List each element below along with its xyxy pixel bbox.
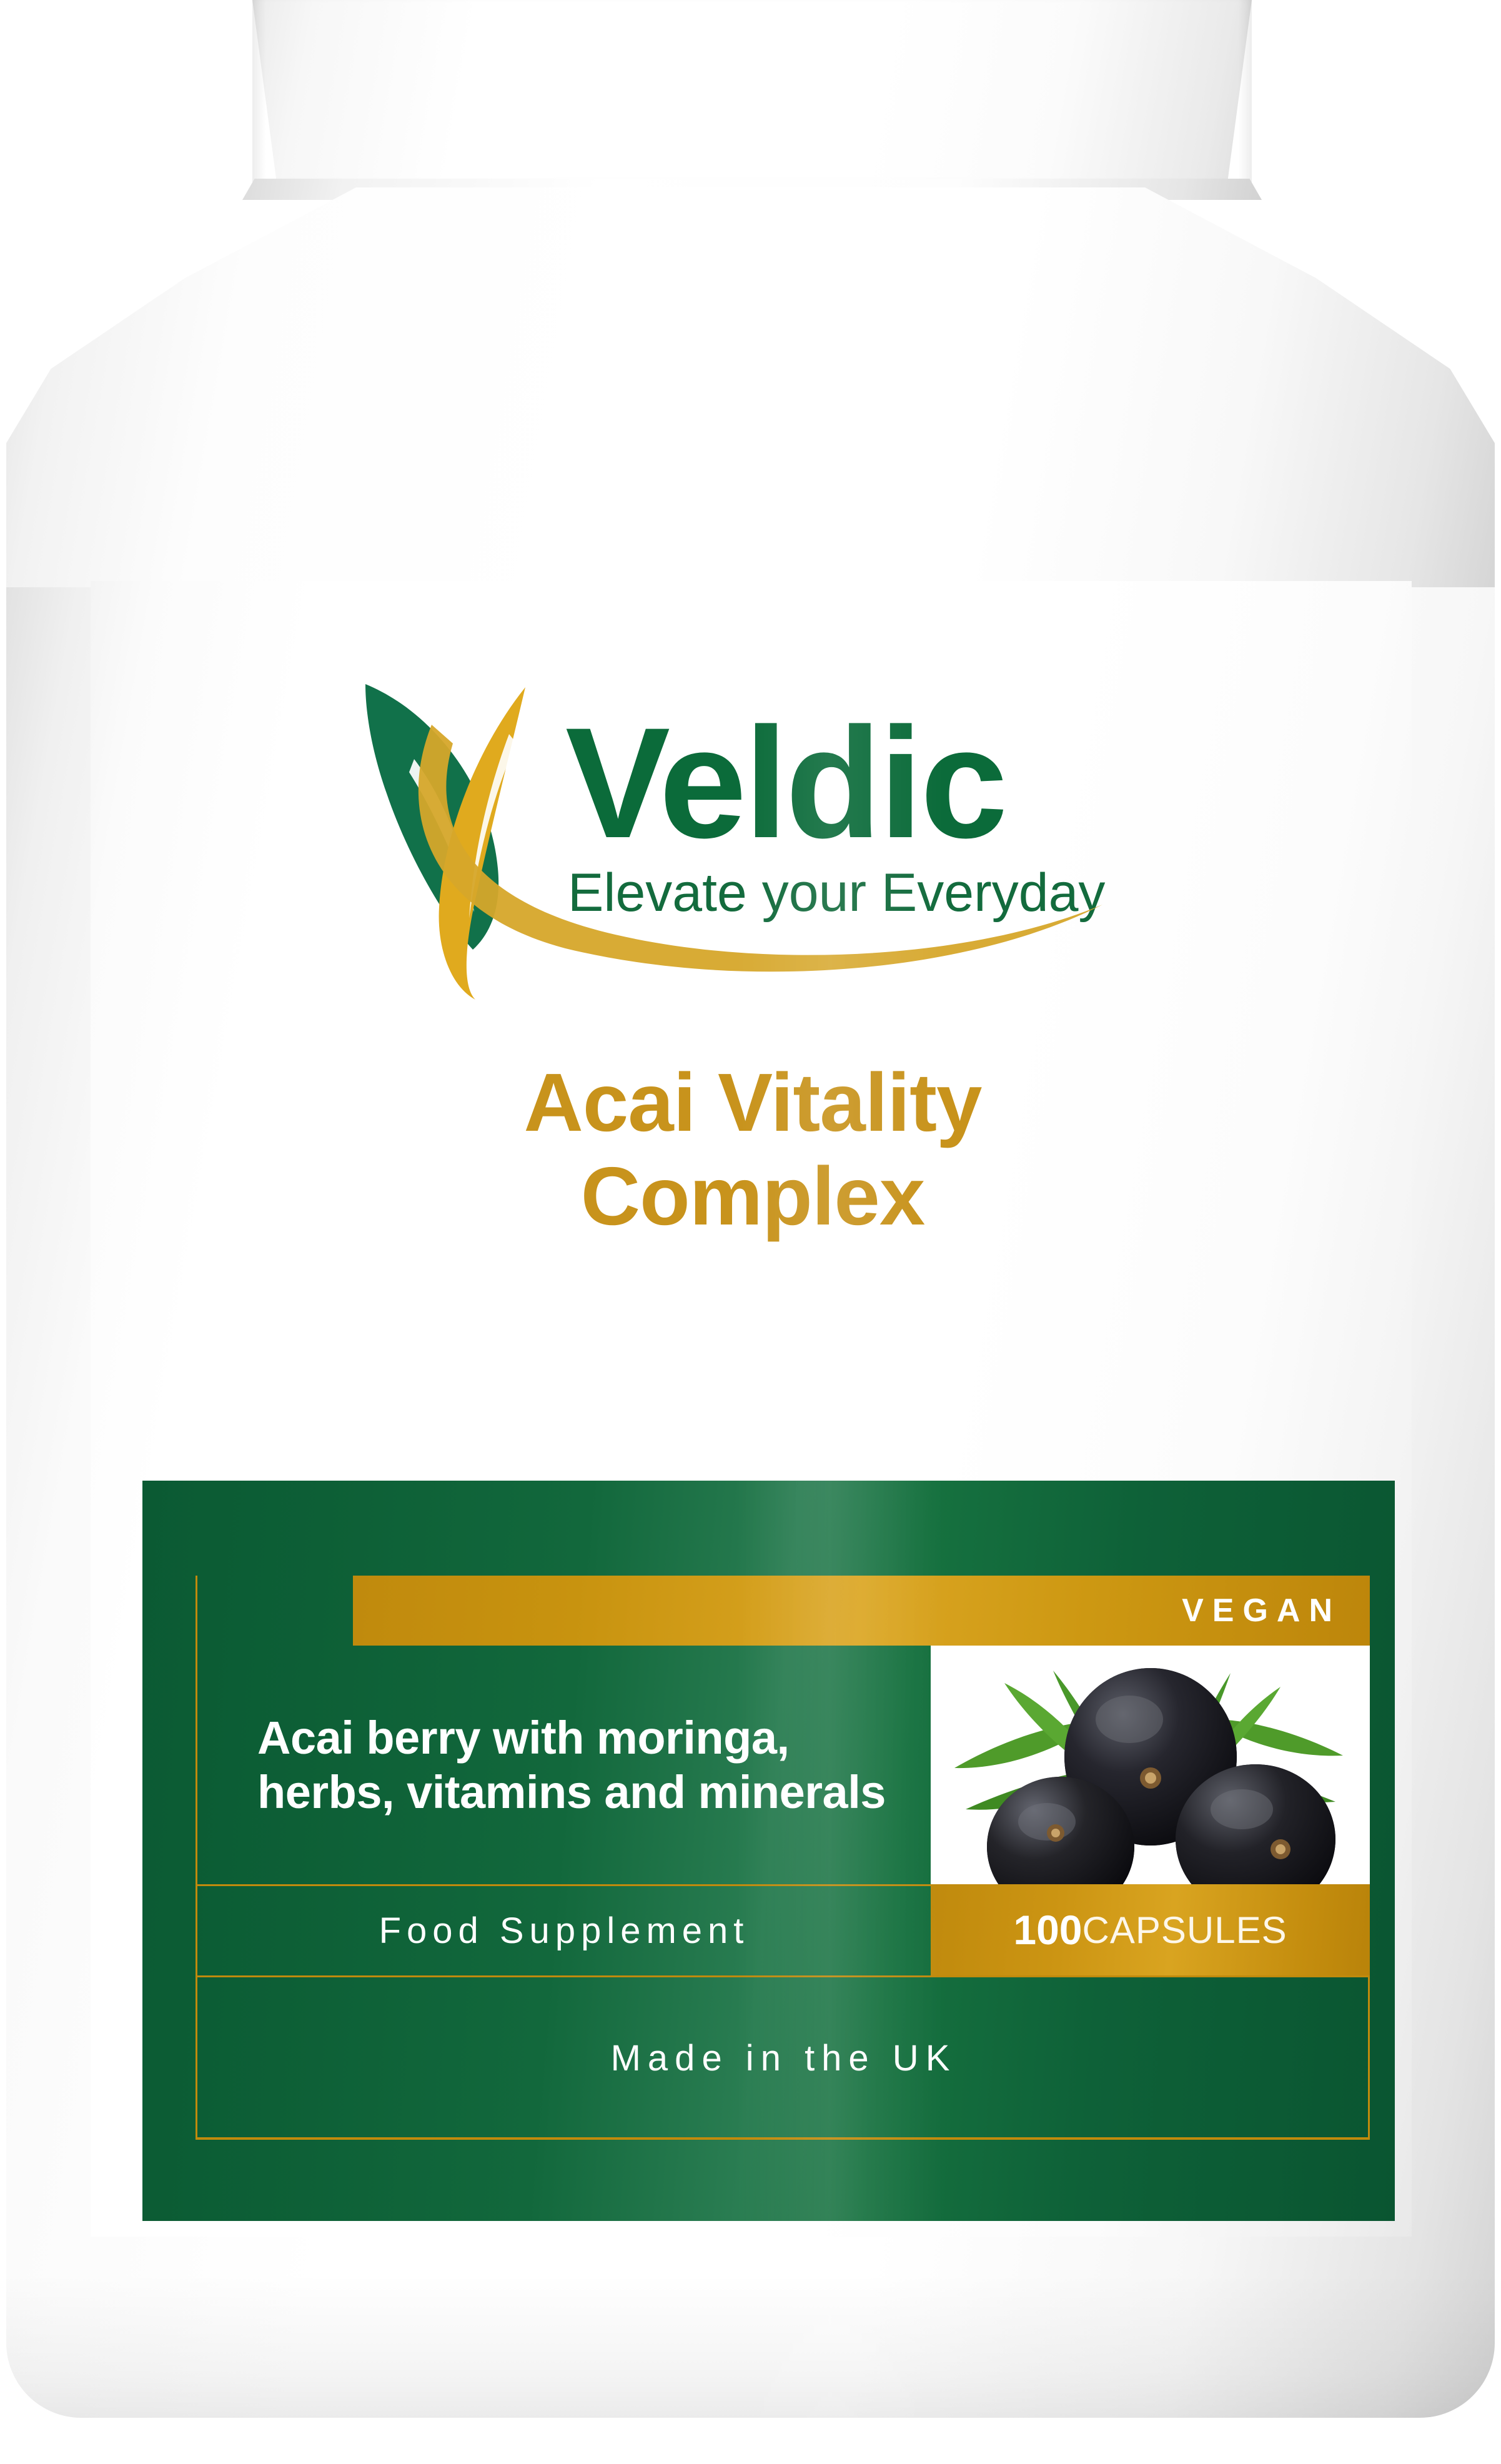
cap-edge-left [252,0,266,187]
capsule-count-row: 100 CAPSULES [931,1884,1370,1975]
brand-wordmark: Veldic [565,695,1005,871]
food-supplement-label: Food Supplement [379,1910,750,1952]
product-title-line-2: Complex [184,1150,1321,1243]
capsule-count-value: 100 [1013,1906,1082,1954]
page-title: Acai Vitality Complex [184,1056,1321,1244]
description-row: Acai berry with moringa, herbs, vitamins… [197,1646,931,1884]
product-description: Acai berry with moringa, herbs, vitamins… [197,1711,931,1820]
brand-logo: Veldic Elevate your Everyday [303,650,1209,1000]
vegan-badge: VEGAN [353,1576,1370,1646]
bottle-cap [252,0,1252,187]
frame-rail-bottom [196,2137,1370,2140]
bottle-base-shadow [6,2274,1495,2418]
brand-tagline: Elevate your Everyday [568,863,1105,923]
product-bottle: Veldic Elevate your Everyday Acai Vitali… [0,0,1501,2464]
origin-label: Made in the UK [611,2037,957,2079]
origin-row: Made in the UK [197,1975,1370,2139]
cap-edge-right [1238,0,1252,187]
vegan-badge-label: VEGAN [1182,1592,1370,1629]
product-title-line-1: Acai Vitality [184,1056,1321,1150]
acai-berry-photo [931,1646,1370,1884]
product-label: Veldic Elevate your Everyday Acai Vitali… [91,581,1412,2237]
frame-rail-left [196,1576,197,1646]
food-supplement-row: Food Supplement [197,1884,931,1975]
bottle-shoulder [6,187,1495,600]
capsule-count-unit: CAPSULES [1082,1909,1287,1952]
green-info-panel: VEGAN Acai berry with moringa, herbs, vi… [142,1481,1395,2221]
